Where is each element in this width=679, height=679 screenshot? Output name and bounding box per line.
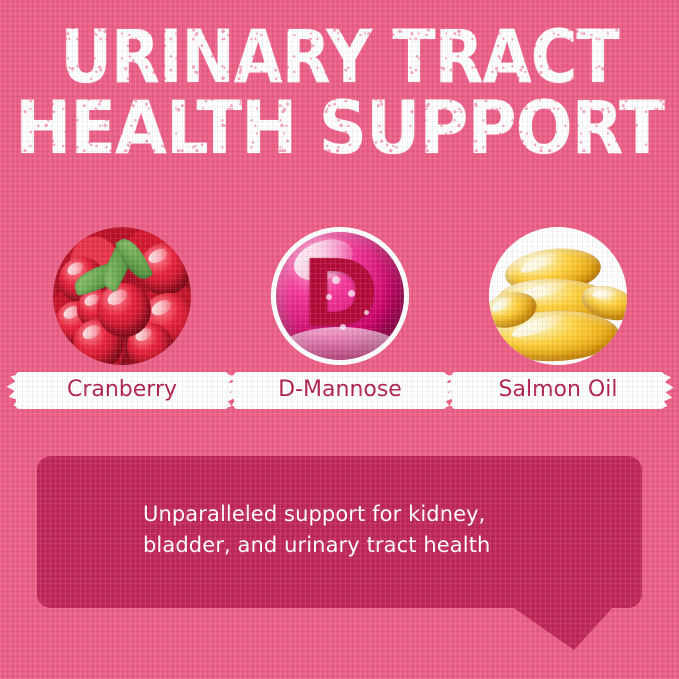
salmon-oil-icon xyxy=(489,227,627,365)
page-title: URINARY TRACT HEALTH SUPPORT xyxy=(0,22,679,152)
callout-tail xyxy=(511,606,614,650)
droplet-shape xyxy=(364,310,369,315)
ingredient-d-mannose[interactable]: D D-Mannose xyxy=(240,227,440,365)
ingredient-label-cranberry: Cranberry xyxy=(16,372,228,409)
ingredient-salmon-oil[interactable]: Salmon Oil xyxy=(458,227,658,365)
droplet-shape xyxy=(348,290,355,297)
title-line-2: HEALTH SUPPORT xyxy=(0,93,679,165)
callout-line-1: Unparalleled support for kidney, xyxy=(143,499,573,530)
glossy-sphere: D xyxy=(276,232,404,360)
cranberry-icon xyxy=(53,227,191,365)
berry-shape xyxy=(97,283,151,337)
droplet-shape xyxy=(326,294,332,300)
title-line-1: URINARY TRACT xyxy=(0,22,679,94)
callout-text: Unparalleled support for kidney, bladder… xyxy=(143,499,573,561)
d-mannose-icon: D xyxy=(271,227,409,365)
callout-bubble: Unparalleled support for kidney, bladder… xyxy=(37,456,642,608)
droplet-shape xyxy=(332,276,340,284)
ingredient-label-d-mannose: D-Mannose xyxy=(234,372,446,409)
product-infographic-poster: URINARY TRACT HEALTH SUPPORT Cranberry xyxy=(0,0,679,679)
callout-line-2: bladder, and urinary tract health xyxy=(143,530,573,561)
ingredient-label-salmon-oil: Salmon Oil xyxy=(452,372,664,409)
ingredient-cranberry[interactable]: Cranberry xyxy=(22,227,222,365)
